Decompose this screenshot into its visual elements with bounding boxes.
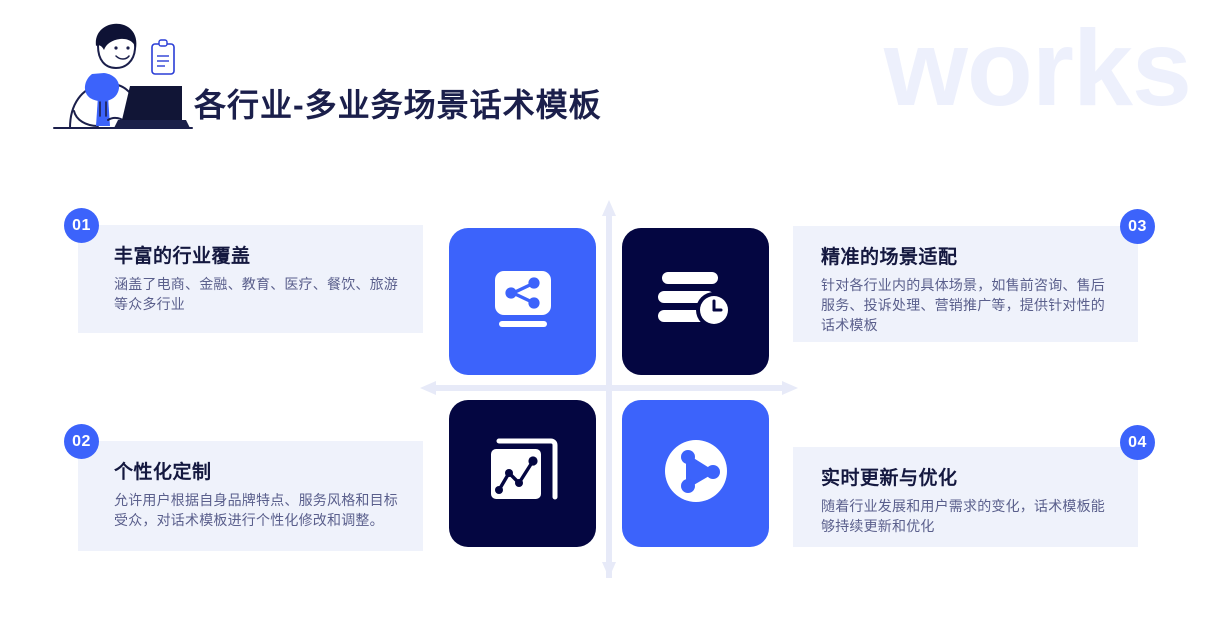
tile-line-chart[interactable]: [449, 400, 596, 547]
feature-card-01[interactable]: 丰富的行业覆盖 涵盖了电商、金融、教育、医疗、餐饮、旅游等众多行业: [78, 225, 423, 333]
tile-list-clock[interactable]: [622, 228, 769, 375]
feature-card-02-desc: 允许用户根据自身品牌特点、服务风格和目标受众，对话术模板进行个性化修改和调整。: [114, 491, 403, 531]
feature-card-04-desc: 随着行业发展和用户需求的变化，话术模板能够持续更新和优化: [821, 497, 1118, 537]
feature-badge-04: 04: [1120, 425, 1155, 460]
feature-card-02-title: 个性化定制: [114, 457, 403, 484]
person-working-on-laptop-illustration: [52, 16, 198, 136]
feature-card-01-desc: 涵盖了电商、金融、教育、医疗、餐饮、旅游等众多行业: [114, 275, 403, 315]
network-nodes-circle-icon: [660, 435, 732, 512]
line-chart-cards-icon: [487, 435, 559, 512]
feature-card-04[interactable]: 实时更新与优化 随着行业发展和用户需求的变化，话术模板能够持续更新和优化: [793, 447, 1138, 547]
feature-card-03[interactable]: 精准的场景适配 针对各行业内的具体场景，如售前咨询、售后服务、投诉处理、营销推广…: [793, 226, 1138, 342]
tile-network-nodes[interactable]: [622, 400, 769, 547]
feature-card-03-desc: 针对各行业内的具体场景，如售前咨询、售后服务、投诉处理、营销推广等，提供针对性的…: [821, 276, 1118, 336]
feature-card-02[interactable]: 个性化定制 允许用户根据自身品牌特点、服务风格和目标受众，对话术模板进行个性化修…: [78, 441, 423, 551]
feature-card-01-title: 丰富的行业覆盖: [114, 241, 403, 268]
slide-canvas: works: [0, 0, 1219, 620]
list-lines-clock-icon: [658, 268, 734, 335]
tile-share-network[interactable]: [449, 228, 596, 375]
horizontal-axis-arrow: [420, 381, 798, 395]
feature-card-04-title: 实时更新与优化: [821, 463, 1118, 490]
page-title: 各行业-多业务场景话术模板: [194, 80, 602, 126]
watermark-text: works: [884, 14, 1191, 122]
feature-badge-03: 03: [1120, 209, 1155, 244]
feature-badge-01: 01: [64, 208, 99, 243]
feature-badge-02: 02: [64, 424, 99, 459]
feature-card-03-title: 精准的场景适配: [821, 242, 1118, 269]
share-network-screen-icon: [487, 263, 559, 340]
